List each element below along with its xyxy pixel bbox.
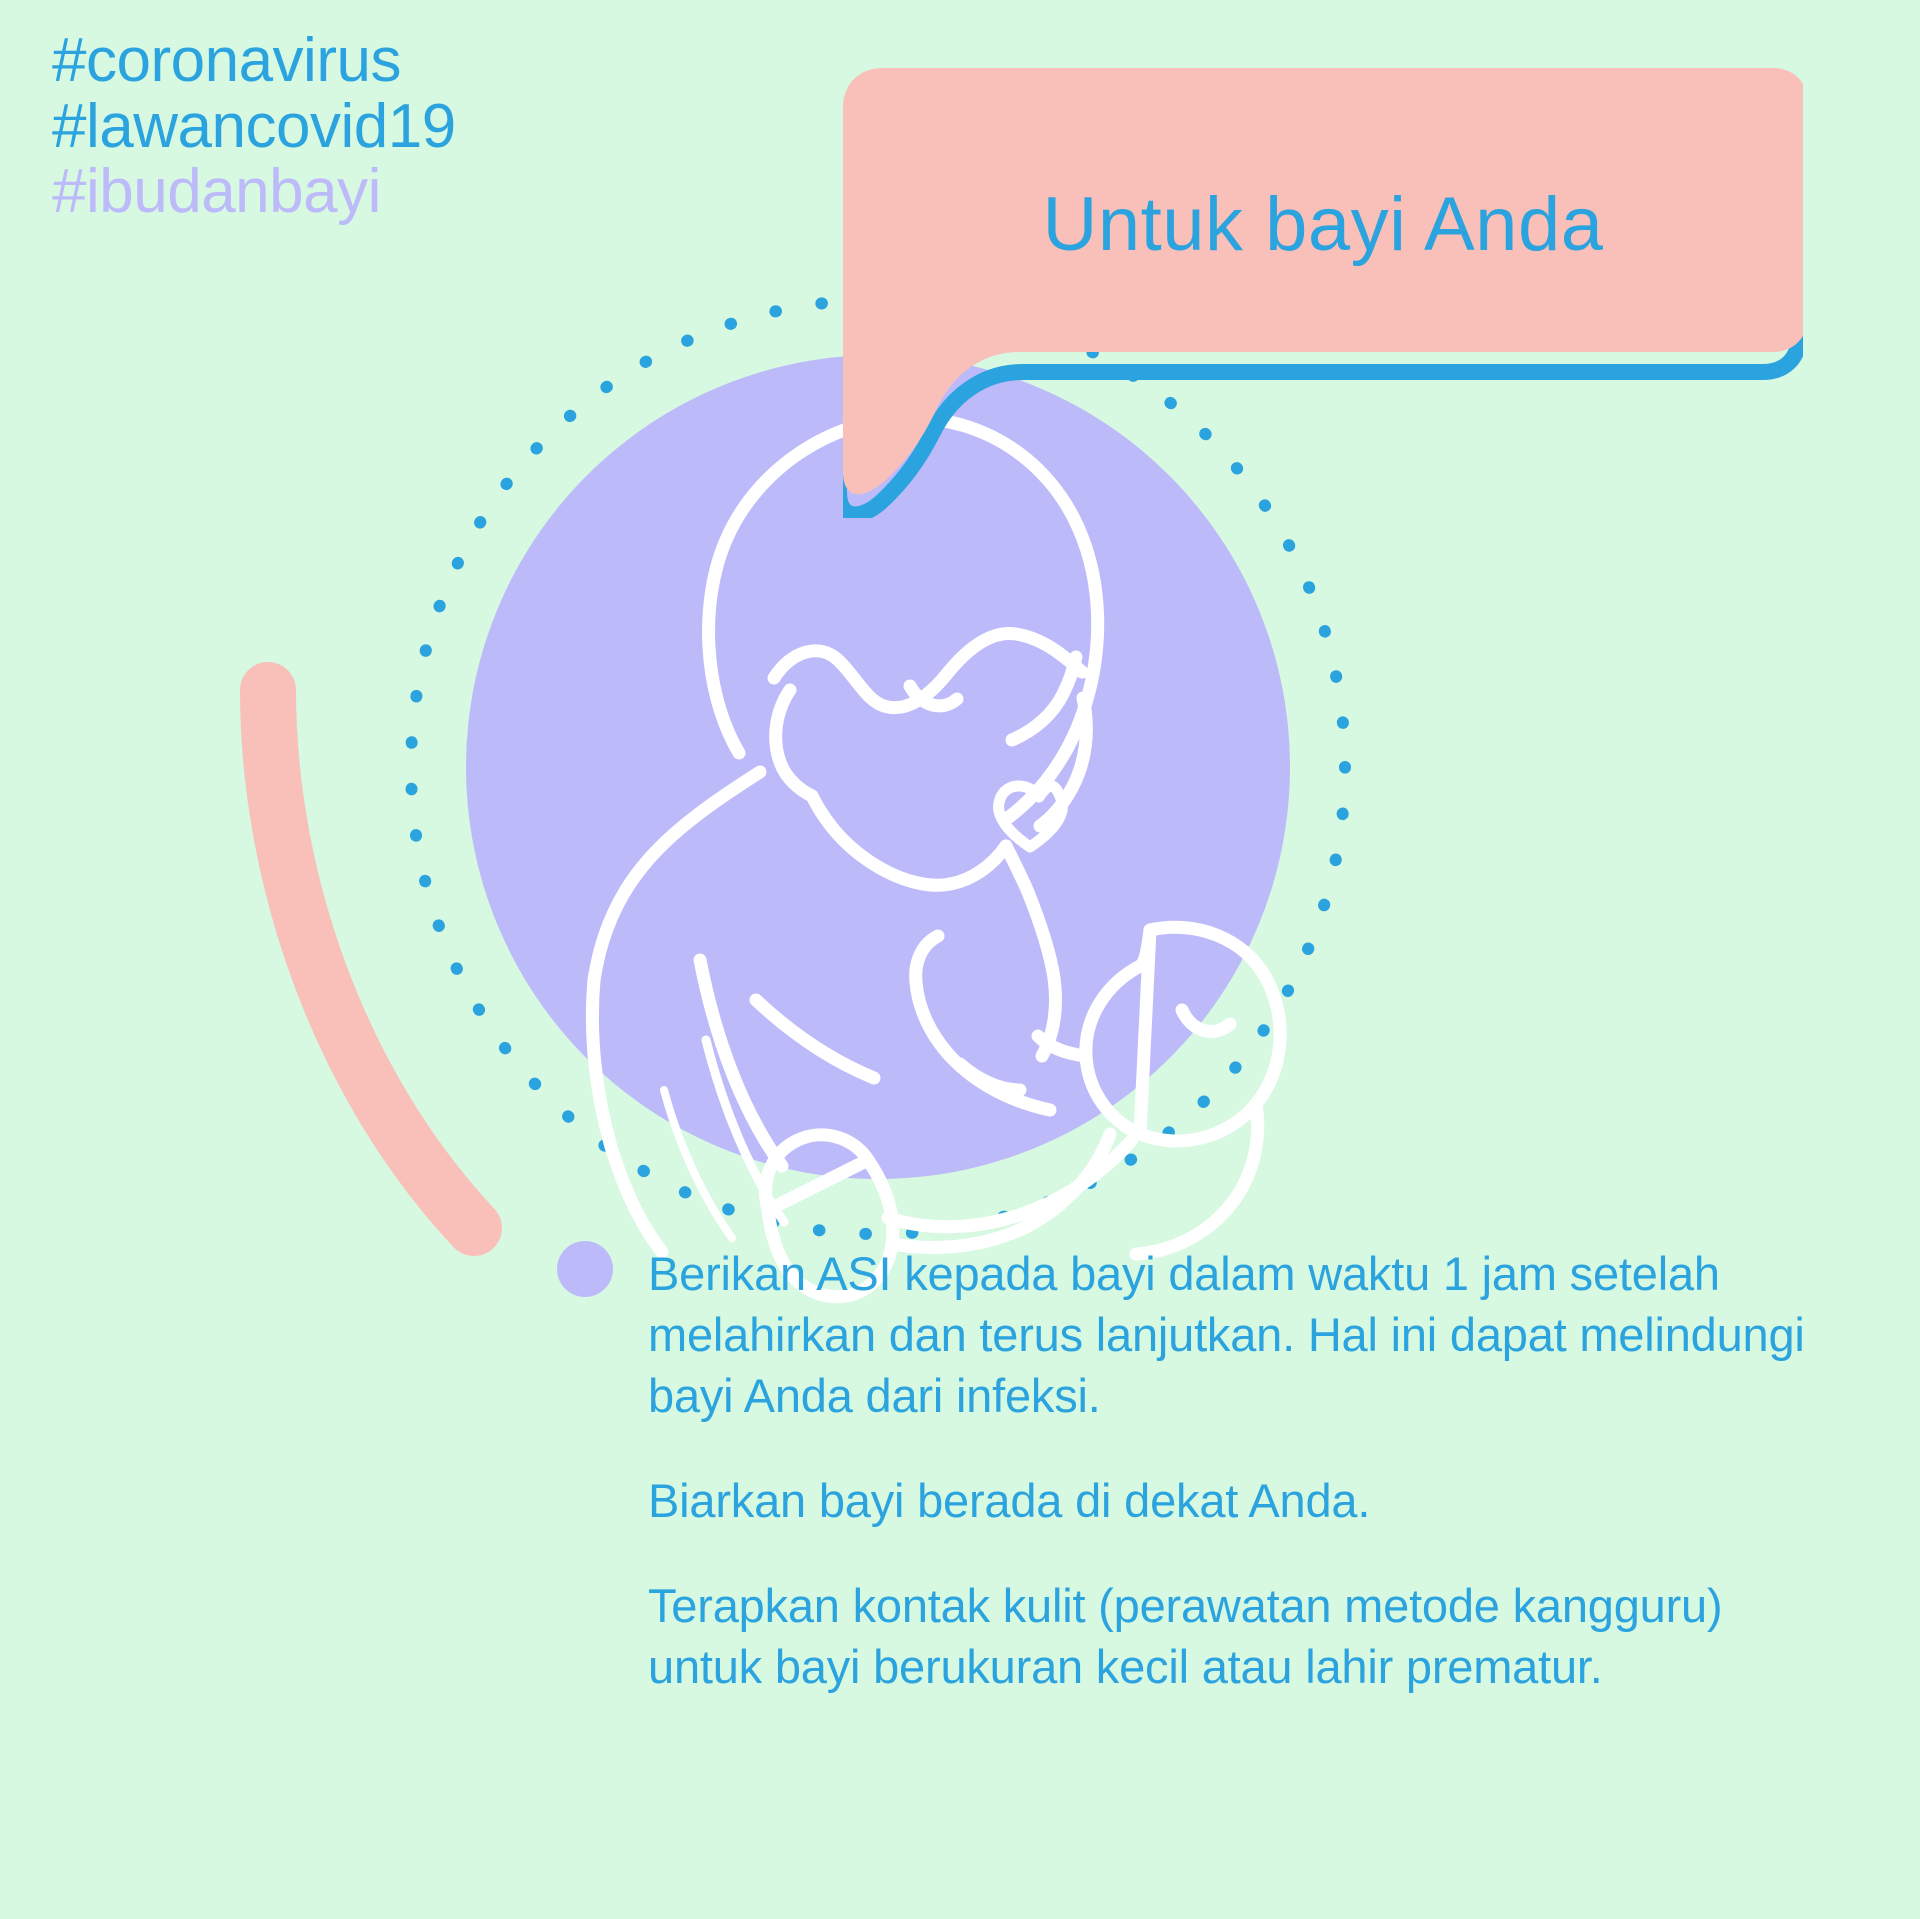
bullet-dot: [557, 1241, 613, 1297]
speech-bubble-body: [843, 68, 1803, 494]
pink-arc-decoration: [268, 690, 474, 1228]
speech-bubble: Untuk bayi Anda: [843, 68, 1803, 518]
poster-canvas: #coronavirus #lawancovid19 #ibudanbayi: [0, 0, 1920, 1919]
paragraph-asi: Berikan ASI kepada bayi dalam waktu 1 ja…: [648, 1243, 1813, 1426]
paragraph-rooming-in: Biarkan bayi berada di dekat Anda.: [648, 1470, 1813, 1531]
body-copy: Berikan ASI kepada bayi dalam waktu 1 ja…: [648, 1243, 1813, 1698]
paragraph-kangaroo: Terapkan kontak kulit (perawatan metode …: [648, 1575, 1813, 1697]
